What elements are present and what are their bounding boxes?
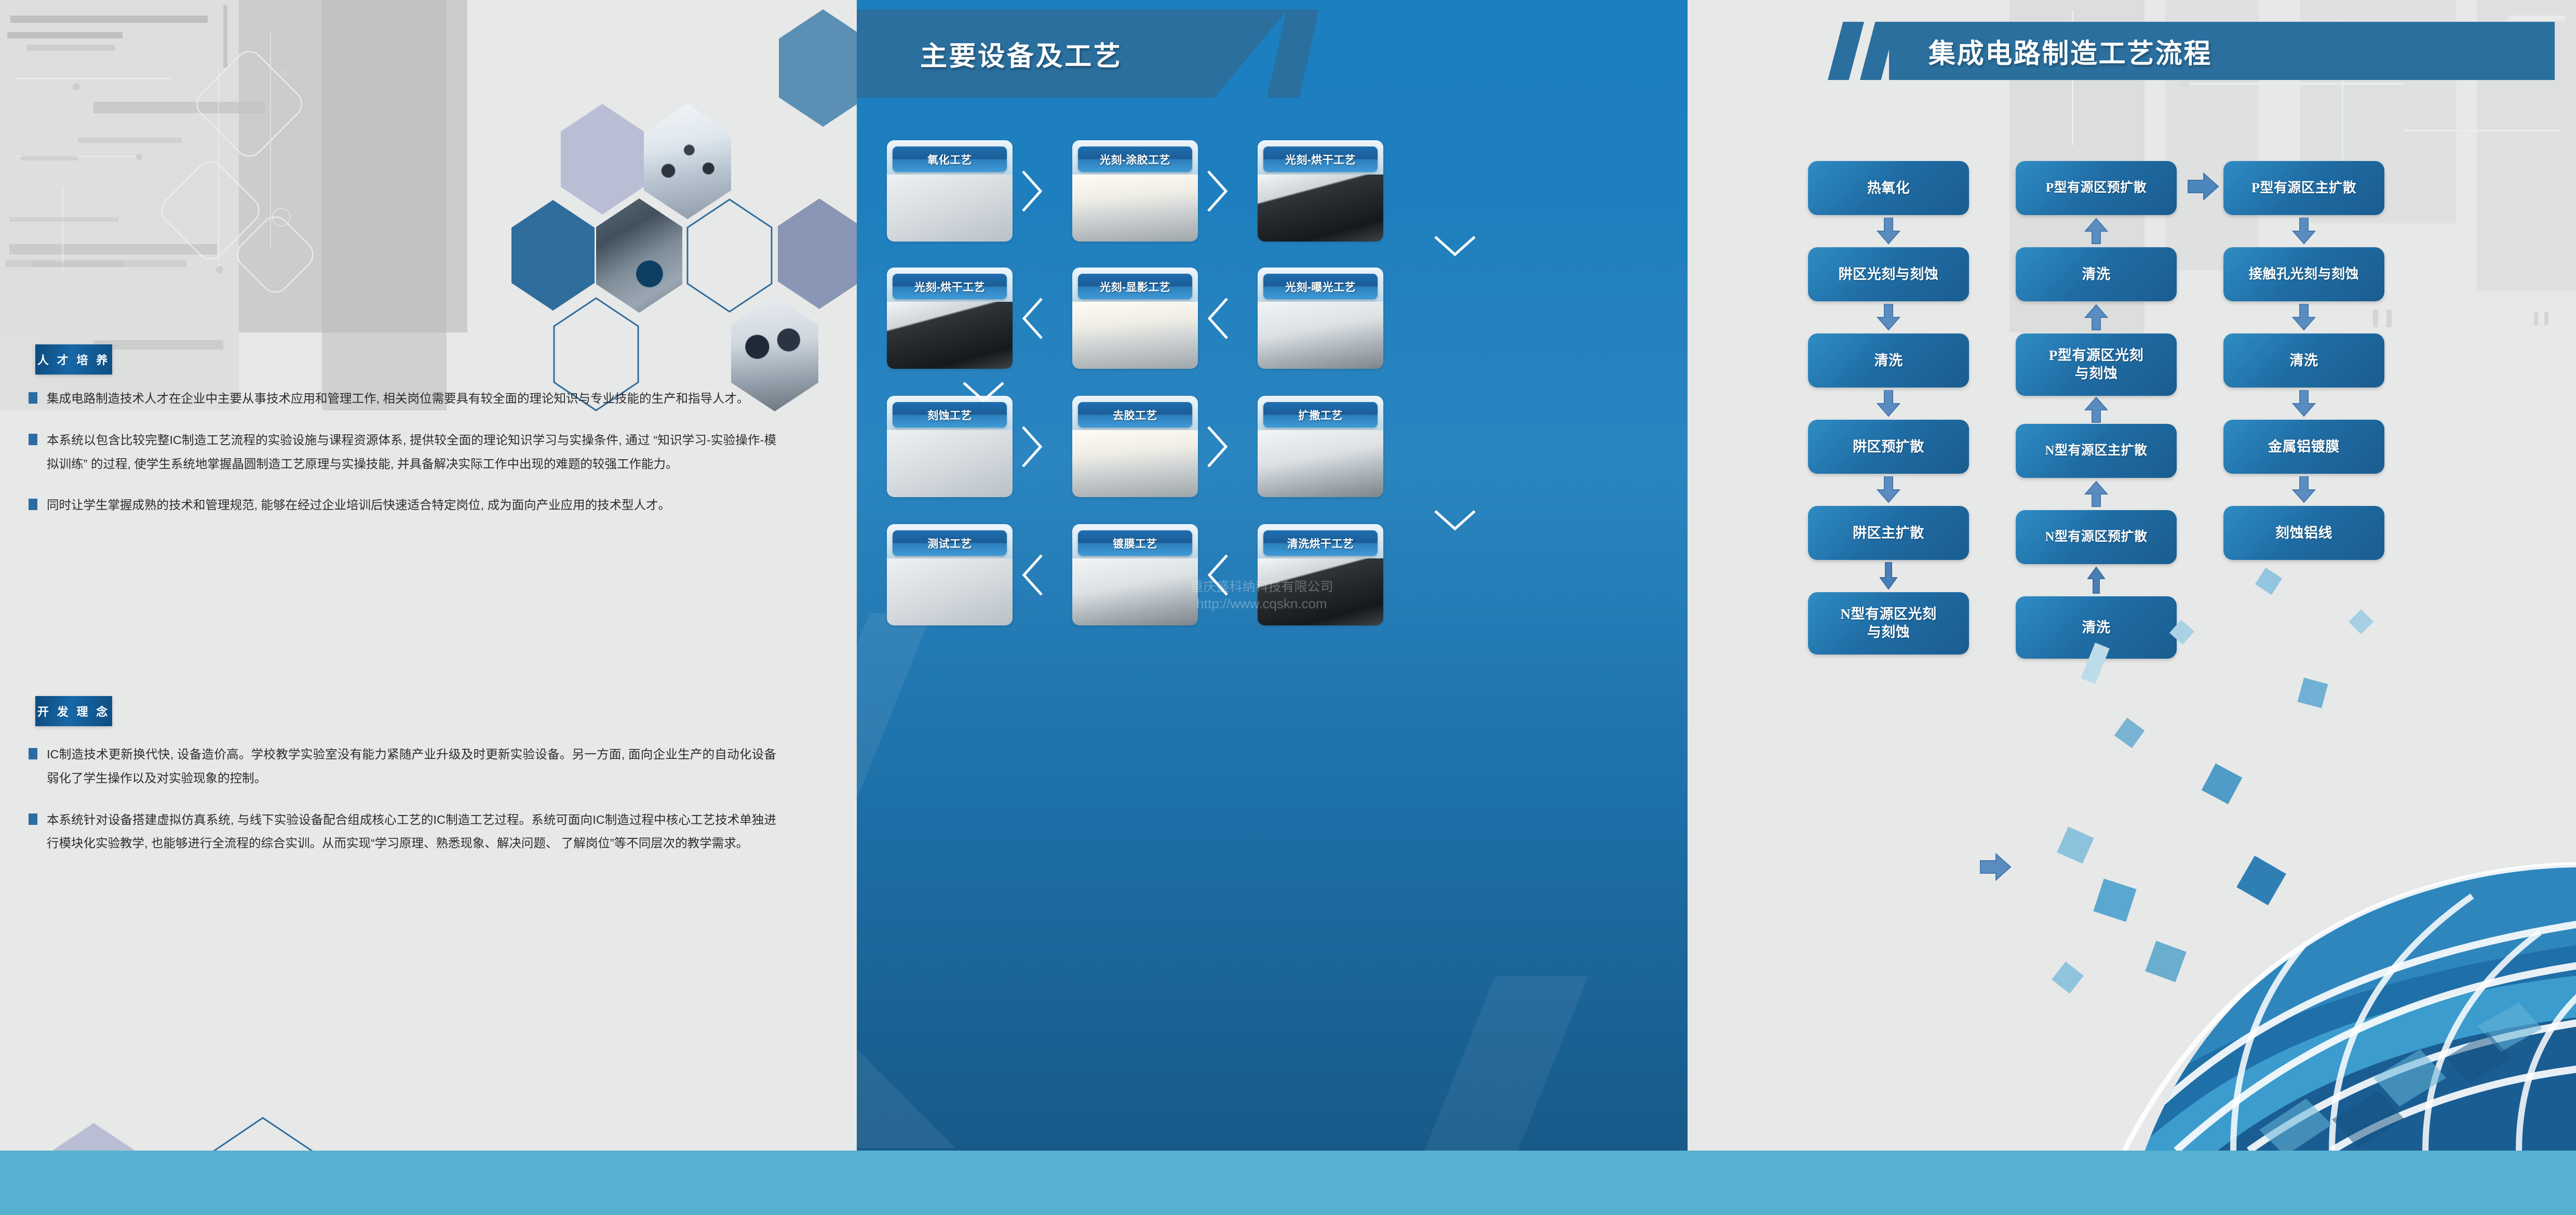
center-panel: 主要设备及工艺 氧化工艺 光刻-涂胶工艺 光刻-烘干工艺: [857, 0, 1688, 1151]
equipment-photo: [1258, 558, 1383, 625]
flow-step[interactable]: P型有源区光刻 与刻蚀: [2016, 333, 2177, 396]
hexagon-solid: [778, 198, 857, 309]
flow-step[interactable]: P型有源区预扩散: [2016, 161, 2177, 215]
flow-step[interactable]: N型有源区主扩散: [2016, 424, 2177, 478]
arrow-right-icon: [2187, 172, 2219, 203]
equipment-grid: 氧化工艺 光刻-涂胶工艺 光刻-烘干工艺 光: [887, 140, 1655, 634]
flow-step[interactable]: 阱区光刻与刻蚀: [1808, 247, 1969, 301]
chevron-left-icon: [1203, 295, 1232, 342]
flow-step[interactable]: N型有源区预扩散: [2016, 510, 2177, 564]
arrow-down-icon: [1808, 301, 1969, 333]
right-header: 集成电路制造工艺流程: [1828, 22, 2555, 80]
equipment-card[interactable]: 光刻-曝光工艺: [1258, 268, 1383, 369]
center-title: 主要设备及工艺: [920, 34, 1122, 73]
arrow-up-icon: [2016, 301, 2177, 333]
arrow-down-icon: [1808, 560, 1969, 592]
arrow-up-icon: [2016, 396, 2177, 424]
equipment-card[interactable]: 去胶工艺: [1072, 396, 1198, 497]
chevron-right-icon: [1018, 423, 1047, 471]
center-header-slab: 主要设备及工艺: [857, 9, 1288, 98]
flow-step[interactable]: P型有源区主扩散: [2223, 161, 2384, 215]
equipment-photo: [1072, 558, 1198, 625]
flow-step[interactable]: 清洗: [2223, 333, 2384, 388]
equipment-card[interactable]: 光刻-显影工艺: [1072, 268, 1198, 369]
arrow-down-icon: [1808, 474, 1969, 506]
diagonal-stripe-decoration: [1423, 977, 1588, 1151]
section-badge-talent: 人 才 培 养: [35, 344, 112, 375]
equipment-photo: [1258, 430, 1383, 497]
equipment-label: 光刻-烘干工艺: [1263, 146, 1378, 172]
flow-step[interactable]: 金属铝镀膜: [2223, 420, 2384, 474]
chevron-down-icon: [1431, 232, 1479, 261]
flow-step[interactable]: 接触孔光刻与刻蚀: [2223, 247, 2384, 301]
bullet-square-icon: [29, 499, 37, 510]
equipment-card[interactable]: 光刻-烘干工艺: [887, 268, 1013, 369]
arrow-down-icon: [2223, 301, 2384, 333]
concept-body-text: IC制造技术更新换代快, 设备造价高。学校教学实验室没有能力紧随产业升级及时更新…: [29, 743, 776, 873]
hexagon-solid: [779, 9, 857, 127]
arrow-down-icon: [1808, 215, 1969, 247]
bullet-square-icon: [29, 813, 37, 825]
arrow-down-icon: [1808, 388, 1969, 420]
paragraph-text: 本系统以包含比较完整IC制造工艺流程的实验设施与课程资源体系, 提供较全面的理论…: [47, 429, 776, 476]
arrow-up-icon: [2016, 215, 2177, 247]
header-slash-icon: [1828, 22, 1864, 80]
right-header-bar: 集成电路制造工艺流程: [1889, 22, 2555, 80]
flow-step[interactable]: 清洗: [2016, 596, 2177, 659]
equipment-label: 扩撒工艺: [1263, 402, 1378, 428]
chevron-right-icon: [1018, 167, 1047, 215]
corner-shape-decoration: [857, 1029, 955, 1148]
right-panel: 集成电路制造工艺流程 热氧化 阱区光刻与刻蚀 清洗 阱区预扩散 阱区主扩散: [1688, 0, 2576, 1215]
hexagon-solid: [561, 104, 644, 215]
equipment-label: 光刻-烘干工艺: [893, 274, 1007, 299]
flow-column-3: P型有源区主扩散 接触孔光刻与刻蚀 清洗 金属铝镀膜 刻蚀铝线: [2223, 161, 2384, 560]
equipment-photo: [1258, 175, 1383, 242]
chevron-left-icon: [1018, 295, 1047, 342]
equipment-row: 刻蚀工艺 去胶工艺 扩撒工艺: [887, 396, 1655, 497]
flow-step[interactable]: 阱区预扩散: [1808, 420, 1969, 474]
equipment-photo: [887, 175, 1013, 242]
equipment-label: 光刻-涂胶工艺: [1078, 146, 1192, 172]
paragraph: 集成电路制造技术人才在企业中主要从事技术应用和管理工作, 相关岗位需要具有较全面…: [29, 387, 776, 411]
hexagon-photo-tablet: [596, 198, 682, 313]
equipment-photo: [1258, 302, 1383, 369]
equipment-label: 光刻-曝光工艺: [1263, 274, 1378, 299]
equipment-photo: [1072, 302, 1198, 369]
arrow-right-icon: [1979, 853, 2012, 884]
equipment-card[interactable]: 测试工艺: [887, 524, 1013, 625]
flow-column-1: 热氧化 阱区光刻与刻蚀 清洗 阱区预扩散 阱区主扩散 N型有源区光刻 与刻蚀: [1808, 161, 1969, 655]
bottom-accent-bar: [0, 1151, 2576, 1215]
paragraph-text: IC制造技术更新换代快, 设备造价高。学校教学实验室没有能力紧随产业升级及时更新…: [47, 743, 776, 791]
chevron-left-icon: [1203, 551, 1232, 599]
equipment-card[interactable]: 氧化工艺: [887, 140, 1013, 242]
paragraph-text: 本系统针对设备搭建虚拟仿真系统, 与线下实验设备配合组成核心工艺的IC制造工艺过…: [47, 808, 776, 856]
hexagon-solid: [511, 200, 595, 311]
hexagon-outline: [686, 198, 773, 313]
paragraph-text: 集成电路制造技术人才在企业中主要从事技术应用和管理工作, 相关岗位需要具有较全面…: [47, 387, 749, 411]
arrow-down-icon: [2223, 474, 2384, 506]
paragraph: 同时让学生掌握成熟的技术和管理规范, 能够在经过企业培训后快速适合特定岗位, 成…: [29, 493, 776, 517]
flow-step[interactable]: N型有源区光刻 与刻蚀: [1808, 592, 1969, 655]
equipment-label: 去胶工艺: [1078, 402, 1192, 428]
arrow-down-icon: [2223, 388, 2384, 420]
bullet-square-icon: [29, 434, 37, 445]
equipment-card[interactable]: 镀膜工艺: [1072, 524, 1198, 625]
equipment-card[interactable]: 扩撒工艺: [1258, 396, 1383, 497]
flow-step[interactable]: 清洗: [1808, 333, 1969, 388]
center-header: 主要设备及工艺: [857, 9, 1324, 98]
equipment-photo: [1072, 430, 1198, 497]
right-title: 集成电路制造工艺流程: [1928, 32, 2212, 71]
talent-body-text: 集成电路制造技术人才在企业中主要从事技术应用和管理工作, 相关岗位需要具有较全面…: [29, 387, 776, 535]
equipment-card[interactable]: 刻蚀工艺: [887, 396, 1013, 497]
equipment-photo: [887, 558, 1013, 625]
equipment-label: 光刻-显影工艺: [1078, 274, 1192, 299]
paragraph: IC制造技术更新换代快, 设备造价高。学校教学实验室没有能力紧随产业升级及时更新…: [29, 743, 776, 791]
equipment-label: 刻蚀工艺: [893, 402, 1007, 428]
flow-step[interactable]: 热氧化: [1808, 161, 1969, 215]
equipment-row: 氧化工艺 光刻-涂胶工艺 光刻-烘干工艺: [887, 140, 1655, 242]
equipment-card[interactable]: 清洗烘干工艺: [1258, 524, 1383, 625]
section-badge-concept: 开 发 理 念: [35, 696, 112, 726]
arrow-down-icon: [2223, 215, 2384, 247]
chevron-right-icon: [1203, 423, 1232, 471]
equipment-card[interactable]: 光刻-烘干工艺: [1258, 140, 1383, 242]
equipment-photo: [887, 302, 1013, 369]
equipment-photo: [1072, 175, 1198, 242]
paragraph: 本系统以包含比较完整IC制造工艺流程的实验设施与课程资源体系, 提供较全面的理论…: [29, 429, 776, 476]
flow-step[interactable]: 清洗: [2016, 247, 2177, 301]
paragraph: 本系统针对设备搭建虚拟仿真系统, 与线下实验设备配合组成核心工艺的IC制造工艺过…: [29, 808, 776, 856]
arrow-up-icon: [2016, 478, 2177, 510]
equipment-label: 测试工艺: [893, 530, 1007, 556]
flow-column-2: P型有源区预扩散 清洗 P型有源区光刻 与刻蚀 N型有源区主扩散 N型有源区预扩…: [2016, 161, 2177, 659]
equipment-label: 氧化工艺: [893, 146, 1007, 172]
paragraph-text: 同时让学生掌握成熟的技术和管理规范, 能够在经过企业培训后快速适合特定岗位, 成…: [47, 493, 670, 517]
flow-step[interactable]: 刻蚀铝线: [2223, 506, 2384, 560]
flow-step[interactable]: 阱区主扩散: [1808, 506, 1969, 560]
equipment-label: 清洗烘干工艺: [1263, 530, 1378, 556]
equipment-row: 光刻-烘干工艺 光刻-显影工艺 光刻-曝光工艺: [887, 268, 1655, 369]
chevron-left-icon: [1018, 551, 1047, 599]
equipment-card[interactable]: 光刻-涂胶工艺: [1072, 140, 1198, 242]
equipment-photo: [887, 430, 1013, 497]
equipment-row: 测试工艺 镀膜工艺 清洗烘干工艺: [887, 524, 1655, 625]
bullet-square-icon: [29, 748, 37, 759]
arrow-up-icon: [2016, 564, 2177, 596]
left-panel: 人 才 培 养 集成电路制造技术人才在企业中主要从事技术应用和管理工作, 相关岗…: [0, 0, 857, 1215]
bullet-square-icon: [29, 392, 37, 404]
diagonal-stripe-decoration: [857, 613, 932, 831]
equipment-label: 镀膜工艺: [1078, 530, 1192, 556]
globe-wave-graphic: [2062, 766, 2576, 1151]
chevron-right-icon: [1203, 167, 1232, 215]
